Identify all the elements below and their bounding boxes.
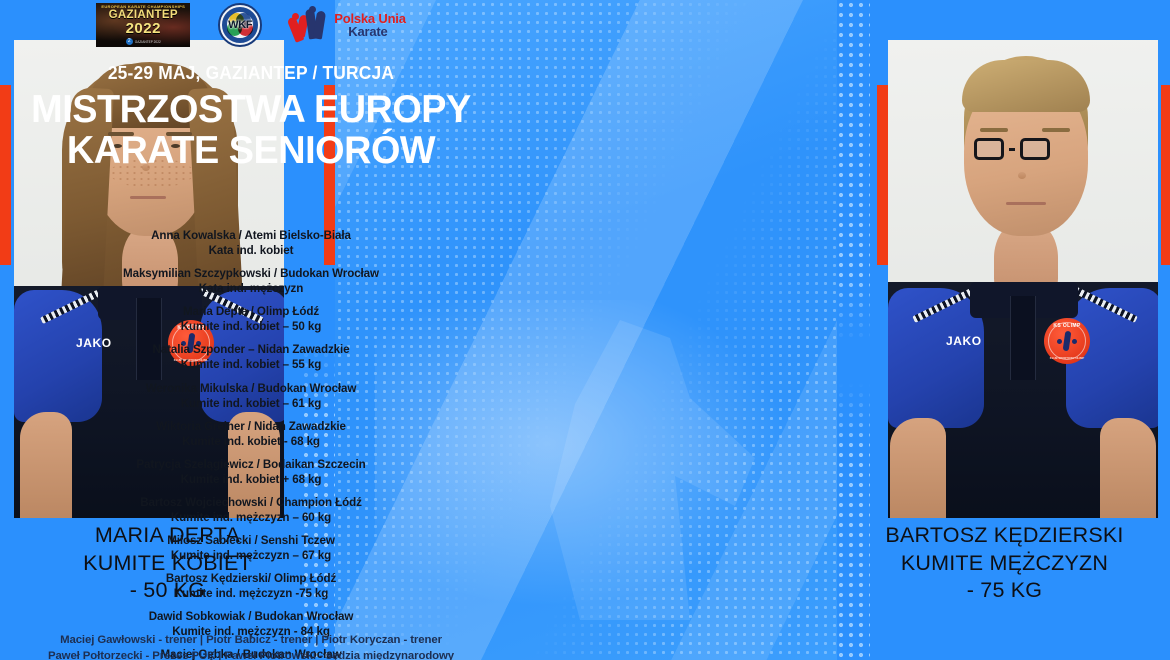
logo-strip: EUROPEAN KARATE CHAMPIONSHIPS GAZIANTEP … xyxy=(0,0,502,50)
athlete-category: Kumite ind. kobiet – 61 kg xyxy=(0,396,502,411)
wkf-label: WKF xyxy=(220,19,260,31)
arm-right xyxy=(1100,418,1156,518)
bartosz-kedzierski-photo: JAKO KS OLIMP KLUB SPORTOWY OLIMP xyxy=(888,40,1158,518)
crest-glyph-icon xyxy=(1058,331,1076,351)
glasses-lens-left xyxy=(974,138,1004,160)
athlete-caption-division: KUMITE MĘŻCZYZN xyxy=(837,550,1170,578)
crest-glyph-dot-left xyxy=(1057,339,1062,344)
club-crest: KS OLIMP KLUB SPORTOWY OLIMP xyxy=(1044,318,1090,364)
athlete-name: Weronika Mikulska / Budokan Wrocław xyxy=(0,381,502,396)
athlete-category: Kumite ind. mężczyzn -75 kg xyxy=(0,586,502,601)
page-title-line-1: MISTRZOSTWA EUROPY xyxy=(8,90,495,131)
athlete-category: Kumite ind. mężczyzn – 60 kg xyxy=(0,510,502,525)
athlete-name: Bartosz Kędzierski/ Olimp Łódź xyxy=(0,571,502,586)
staff-footer-line-2: Paweł Połtorzecki - Prezes PUK | Paweł P… xyxy=(0,648,522,660)
list-item: Natalia Szponder – Nidan Zawadzkie Kumit… xyxy=(0,342,502,372)
athlete-category: Kata ind. mężczyzn xyxy=(0,281,502,296)
athlete-category: Kumite ind. kobiet – 55 kg xyxy=(0,357,502,372)
athlete-name: Maria Depta / Olimp Łódź xyxy=(0,304,502,319)
mouth xyxy=(1006,202,1046,205)
red-accent-bar-inner-right xyxy=(1161,85,1170,265)
poster-root: EUROPEAN KARATE CHAMPIONSHIPS GAZIANTEP … xyxy=(0,0,1170,660)
glasses-lens-right xyxy=(1020,138,1050,160)
athlete-name: Patrycja Szelągiewicz / Bodaikan Szczeci… xyxy=(0,457,502,472)
list-item: Bartosz Wojciechowski / Champion Łódź Ku… xyxy=(0,495,502,525)
athlete-category: Kumite ind. mężczyzn – 67 kg xyxy=(0,548,502,563)
crest-top-text: KS OLIMP xyxy=(1044,323,1090,329)
puk-head-red xyxy=(292,13,299,20)
puk-head-navy xyxy=(309,6,316,13)
athlete-category: Kata ind. kobiet xyxy=(0,243,502,258)
gaziantep-2022-banner: EUROPEAN KARATE CHAMPIONSHIPS GAZIANTEP … xyxy=(96,3,190,47)
red-accent-bar-outer-right xyxy=(877,85,888,265)
glasses-icon xyxy=(974,138,1050,160)
athlete-caption-right: BARTOSZ KĘDZIERSKI KUMITE MĘŻCZYZN - 75 … xyxy=(837,522,1170,605)
list-item: Bartosz Kędzierski/ Olimp Łódź Kumite in… xyxy=(0,571,502,601)
page-title-line-2: KARATE SENIORÓW xyxy=(8,131,495,172)
gaziantep-footer-text: GAZIANTEP 2022 xyxy=(135,40,161,44)
athlete-name: Natalia Szponder – Nidan Zawadzkie xyxy=(0,342,502,357)
wkf-logo: WKF xyxy=(218,3,262,47)
hair-front xyxy=(962,60,1090,112)
list-item: Maria Depta / Olimp Łódź Kumite ind. kob… xyxy=(0,304,502,334)
athlete-category: Kumite ind. kobiet + 68 kg xyxy=(0,472,502,487)
athlete-caption-name: BARTOSZ KĘDZIERSKI xyxy=(837,522,1170,550)
athlete-name: Bartosz Wojciechowski / Champion Łódź xyxy=(0,495,502,510)
arm-left xyxy=(890,418,946,518)
list-item: Patrycja Szelągiewicz / Bodaikan Szczeci… xyxy=(0,457,502,487)
eyebrow-left xyxy=(980,128,1008,132)
polska-unia-karate-logo: Polska Unia Karate xyxy=(290,5,406,45)
nose xyxy=(1018,172,1026,179)
puk-wordmark: Polska Unia Karate xyxy=(334,12,406,39)
staff-footer: Maciej Gawłowski - trener | Piotr Babicz… xyxy=(0,632,522,660)
eyebrow-right xyxy=(1042,128,1070,132)
staff-footer-line-1: Maciej Gawłowski - trener | Piotr Babicz… xyxy=(0,632,522,648)
event-dates-location: 25-29 MAJ, GAZIANTEP / TURCJA xyxy=(15,62,487,84)
puk-line-1: Polska Unia xyxy=(334,12,406,25)
athlete-name: Miłosz Sabiecki / Senshi Tczew xyxy=(0,533,502,548)
athlete-caption-weight: - 75 KG xyxy=(837,577,1170,605)
list-item: Miłosz Sabiecki / Senshi Tczew Kumite in… xyxy=(0,533,502,563)
gaziantep-footer: 2 GAZIANTEP 2022 xyxy=(126,38,161,45)
athlete-name: Maksymilian Szczypkowski / Budokan Wrocł… xyxy=(0,266,502,281)
shirt-brand-label: JAKO xyxy=(946,334,982,348)
athlete-roster-list: Anna Kowalska / Atemi Bielsko-Biała Kata… xyxy=(0,228,502,660)
list-item: Anna Kowalska / Atemi Bielsko-Biała Kata… xyxy=(0,228,502,258)
athlete-name: Wiktoria Grejner / Nidan Zawadzkie xyxy=(0,419,502,434)
list-item: Maksymilian Szczypkowski / Budokan Wrocł… xyxy=(0,266,502,296)
crest-glyph-dot-right xyxy=(1072,339,1077,344)
athlete-category: Kumite ind. kobiet - 68 kg xyxy=(0,434,502,449)
glasses-bridge xyxy=(1009,148,1015,151)
athlete-card-right: JAKO KS OLIMP KLUB SPORTOWY OLIMP BARTOS… xyxy=(837,0,1170,660)
crest-bottom-text: KLUB SPORTOWY OLIMP xyxy=(1044,356,1090,360)
athlete-category: Kumite ind. kobiet – 50 kg xyxy=(0,319,502,334)
list-item: Wiktoria Grejner / Nidan Zawadzkie Kumit… xyxy=(0,419,502,449)
heading-block: 25-29 MAJ, GAZIANTEP / TURCJA MISTRZOSTW… xyxy=(0,62,502,171)
puk-line-2: Karate xyxy=(334,25,406,38)
athlete-name: Dawid Sobkowiak / Budokan Wrocław xyxy=(0,609,502,624)
gaziantep-badge-icon: 2 xyxy=(126,38,133,45)
athlete-name: Anna Kowalska / Atemi Bielsko-Biała xyxy=(0,228,502,243)
crest-glyph-stem xyxy=(1063,331,1072,352)
puk-figures-icon xyxy=(290,5,330,45)
placket xyxy=(1010,296,1036,380)
gaziantep-year-label: 2022 xyxy=(126,21,161,36)
mouth xyxy=(130,196,166,199)
puk-figure-navy-2 xyxy=(313,10,326,39)
list-item: Weronika Mikulska / Budokan Wrocław Kumi… xyxy=(0,381,502,411)
